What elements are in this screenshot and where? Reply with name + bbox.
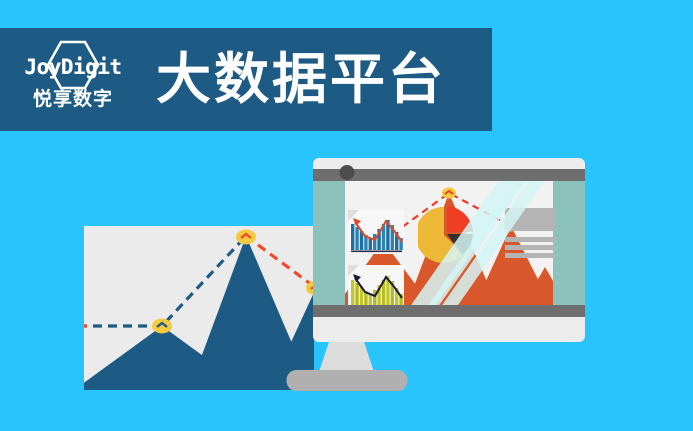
monitor-stand-neck [319, 342, 374, 372]
bar-chart-olive-card [348, 265, 404, 305]
monitor-stand-base [286, 370, 407, 391]
blue-mountain-svg [84, 226, 314, 390]
monitor-display [313, 158, 585, 342]
logo-subtitle: 悦享数字 [33, 90, 113, 109]
monitor-screen [313, 181, 585, 305]
bar-chart-olive-svg [348, 265, 404, 305]
axis-line [351, 251, 402, 253]
document-line [505, 245, 556, 250]
logo-wordmark: JoyDigit [24, 57, 121, 78]
data-marker [442, 188, 456, 199]
header-banner: JoyDigit 悦享数字 大数据平台 [0, 28, 492, 131]
page-title: 大数据平台 [156, 52, 446, 107]
left-mountain-chart [84, 226, 314, 390]
monitor-power-dot[interactable] [339, 165, 354, 180]
bar-chart-blue-svg [348, 210, 404, 254]
data-marker [236, 230, 256, 245]
data-marker [152, 319, 172, 334]
monitor-bottom-bar [313, 305, 585, 317]
screen-accent-left [313, 181, 345, 305]
illustration-canvas: JoyDigit 悦享数字 大数据平台 [0, 0, 693, 431]
document-line [505, 237, 556, 242]
screen-accent-right [553, 181, 585, 305]
document-line [505, 253, 556, 258]
bar-chart-blue-card [348, 210, 404, 254]
brand-logo: JoyDigit 悦享数字 [14, 38, 132, 122]
